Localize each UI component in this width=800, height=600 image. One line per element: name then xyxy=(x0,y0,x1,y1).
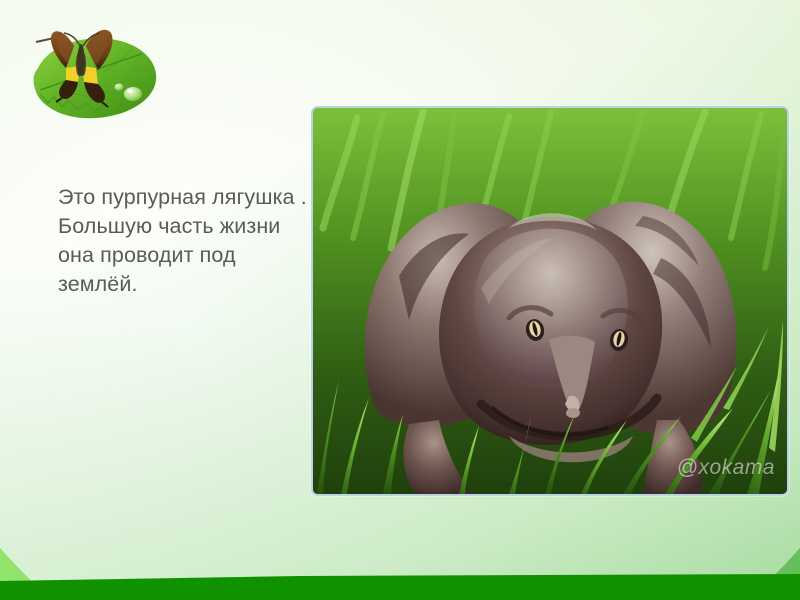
frog-photo: @xokama xyxy=(311,106,789,496)
bottom-green-band xyxy=(0,574,800,600)
slide-caption: Это пурпурная лягушка . Большую часть жи… xyxy=(58,183,310,299)
slide-canvas: Это пурпурная лягушка . Большую часть жи… xyxy=(0,0,800,600)
leaf-butterflies-decoration xyxy=(16,24,176,128)
butterfly-body xyxy=(78,44,85,76)
